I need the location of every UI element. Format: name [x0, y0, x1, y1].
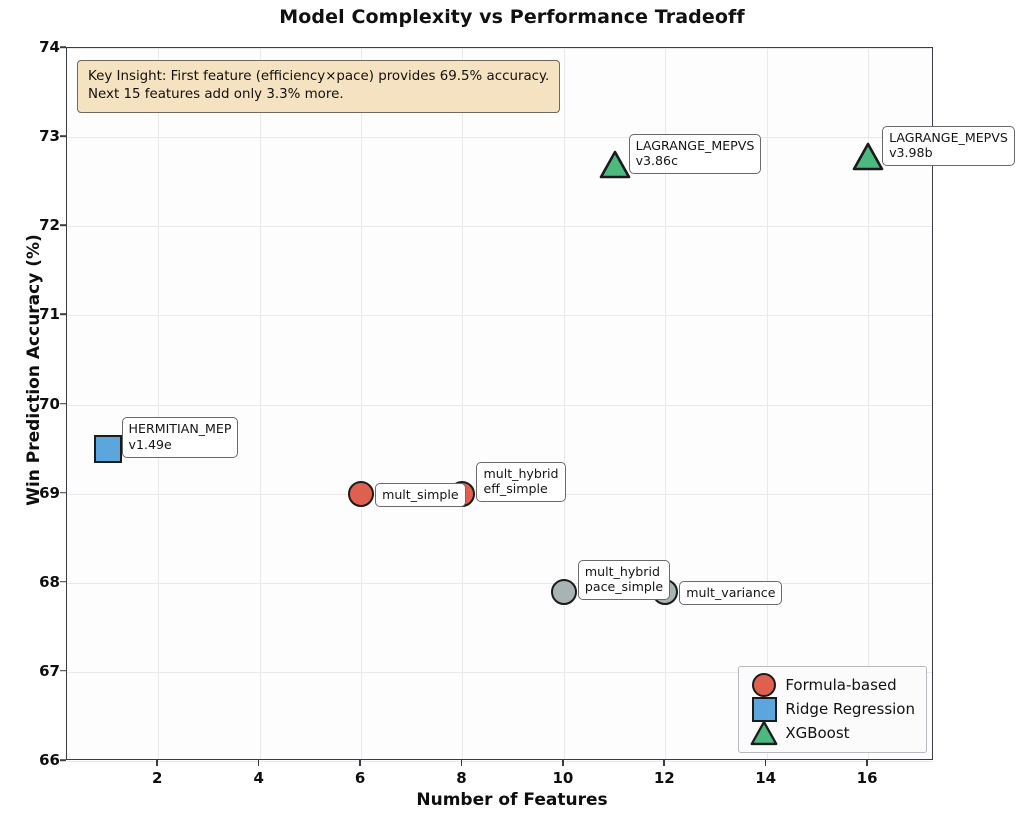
gridline-horizontal [67, 315, 932, 316]
data-point-label: LAGRANGE_MEPVS v3.86c [629, 134, 762, 174]
legend-label: Ridge Regression [785, 700, 915, 718]
gridline-vertical [260, 48, 261, 759]
plot-area: mult_simplemult_hybrid eff_simpleHERMITI… [66, 47, 933, 760]
chart-figure: Model Complexity vs Performance Tradeoff… [0, 0, 1024, 819]
x-tick-label: 6 [340, 769, 380, 787]
x-tick-mark [156, 760, 158, 766]
data-point-square[interactable] [94, 435, 122, 463]
y-tick-mark [60, 581, 66, 583]
x-tick-mark [258, 760, 260, 766]
x-tick-label: 10 [543, 769, 583, 787]
x-tick-label: 12 [644, 769, 684, 787]
gridline-horizontal [67, 137, 932, 138]
x-tick-mark [562, 760, 564, 766]
x-tick-label: 4 [239, 769, 279, 787]
gridline-horizontal [67, 583, 932, 584]
gridline-horizontal [67, 405, 932, 406]
legend-item-formula-based[interactable]: Formula-based [747, 673, 915, 697]
data-point-label: mult_variance [679, 581, 782, 606]
chart-legend[interactable]: Formula-basedRidge RegressionXGBoost [738, 666, 927, 753]
gridline-vertical [361, 48, 362, 759]
x-tick-mark [359, 760, 361, 766]
x-tick-label: 16 [847, 769, 887, 787]
x-axis-label: Number of Features [0, 790, 1024, 810]
x-tick-mark [461, 760, 463, 766]
legend-square-icon [747, 697, 781, 721]
chart-title: Model Complexity vs Performance Tradeoff [0, 6, 1024, 28]
x-tick-mark [663, 760, 665, 766]
y-tick-mark [60, 135, 66, 137]
data-point-triangle[interactable] [599, 150, 631, 179]
x-tick-label: 2 [137, 769, 177, 787]
y-tick-mark [60, 314, 66, 316]
data-point-triangle[interactable] [852, 142, 884, 171]
gridline-vertical [158, 48, 159, 759]
data-point-circle[interactable] [551, 579, 577, 605]
y-tick-label: 66 [8, 751, 60, 769]
y-tick-mark [60, 224, 66, 226]
gridline-vertical [564, 48, 565, 759]
gridline-vertical [462, 48, 463, 759]
legend-item-ridge-regression[interactable]: Ridge Regression [747, 697, 915, 721]
legend-triangle-icon [747, 721, 781, 745]
y-tick-label: 68 [8, 573, 60, 591]
x-tick-label: 8 [441, 769, 481, 787]
data-point-label: mult_hybrid eff_simple [476, 462, 565, 502]
legend-item-xgboost[interactable]: XGBoost [747, 721, 915, 745]
key-insight-annotation: Key Insight: First feature (efficiency×p… [77, 60, 560, 113]
gridline-vertical [767, 48, 768, 759]
y-tick-label: 74 [8, 38, 60, 56]
y-axis-label: Win Prediction Accuracy (%) [24, 190, 44, 550]
gridline-horizontal [67, 48, 932, 49]
data-point-label: LAGRANGE_MEPVS v3.98b [882, 126, 1015, 166]
y-tick-mark [60, 670, 66, 672]
data-point-label: mult_simple [375, 483, 466, 508]
legend-label: XGBoost [785, 724, 849, 742]
x-tick-mark [765, 760, 767, 766]
y-tick-mark [60, 403, 66, 405]
data-point-label: mult_hybrid pace_simple [578, 560, 670, 600]
y-tick-mark [60, 46, 66, 48]
y-tick-mark [60, 492, 66, 494]
legend-circle-icon [747, 673, 781, 697]
legend-label: Formula-based [785, 676, 896, 694]
x-tick-mark [866, 760, 868, 766]
data-point-circle[interactable] [348, 481, 374, 507]
data-point-label: HERMITIAN_MEP v1.49e [122, 417, 239, 457]
x-tick-label: 14 [746, 769, 786, 787]
y-tick-label: 73 [8, 127, 60, 145]
y-tick-label: 67 [8, 662, 60, 680]
gridline-horizontal [67, 226, 932, 227]
